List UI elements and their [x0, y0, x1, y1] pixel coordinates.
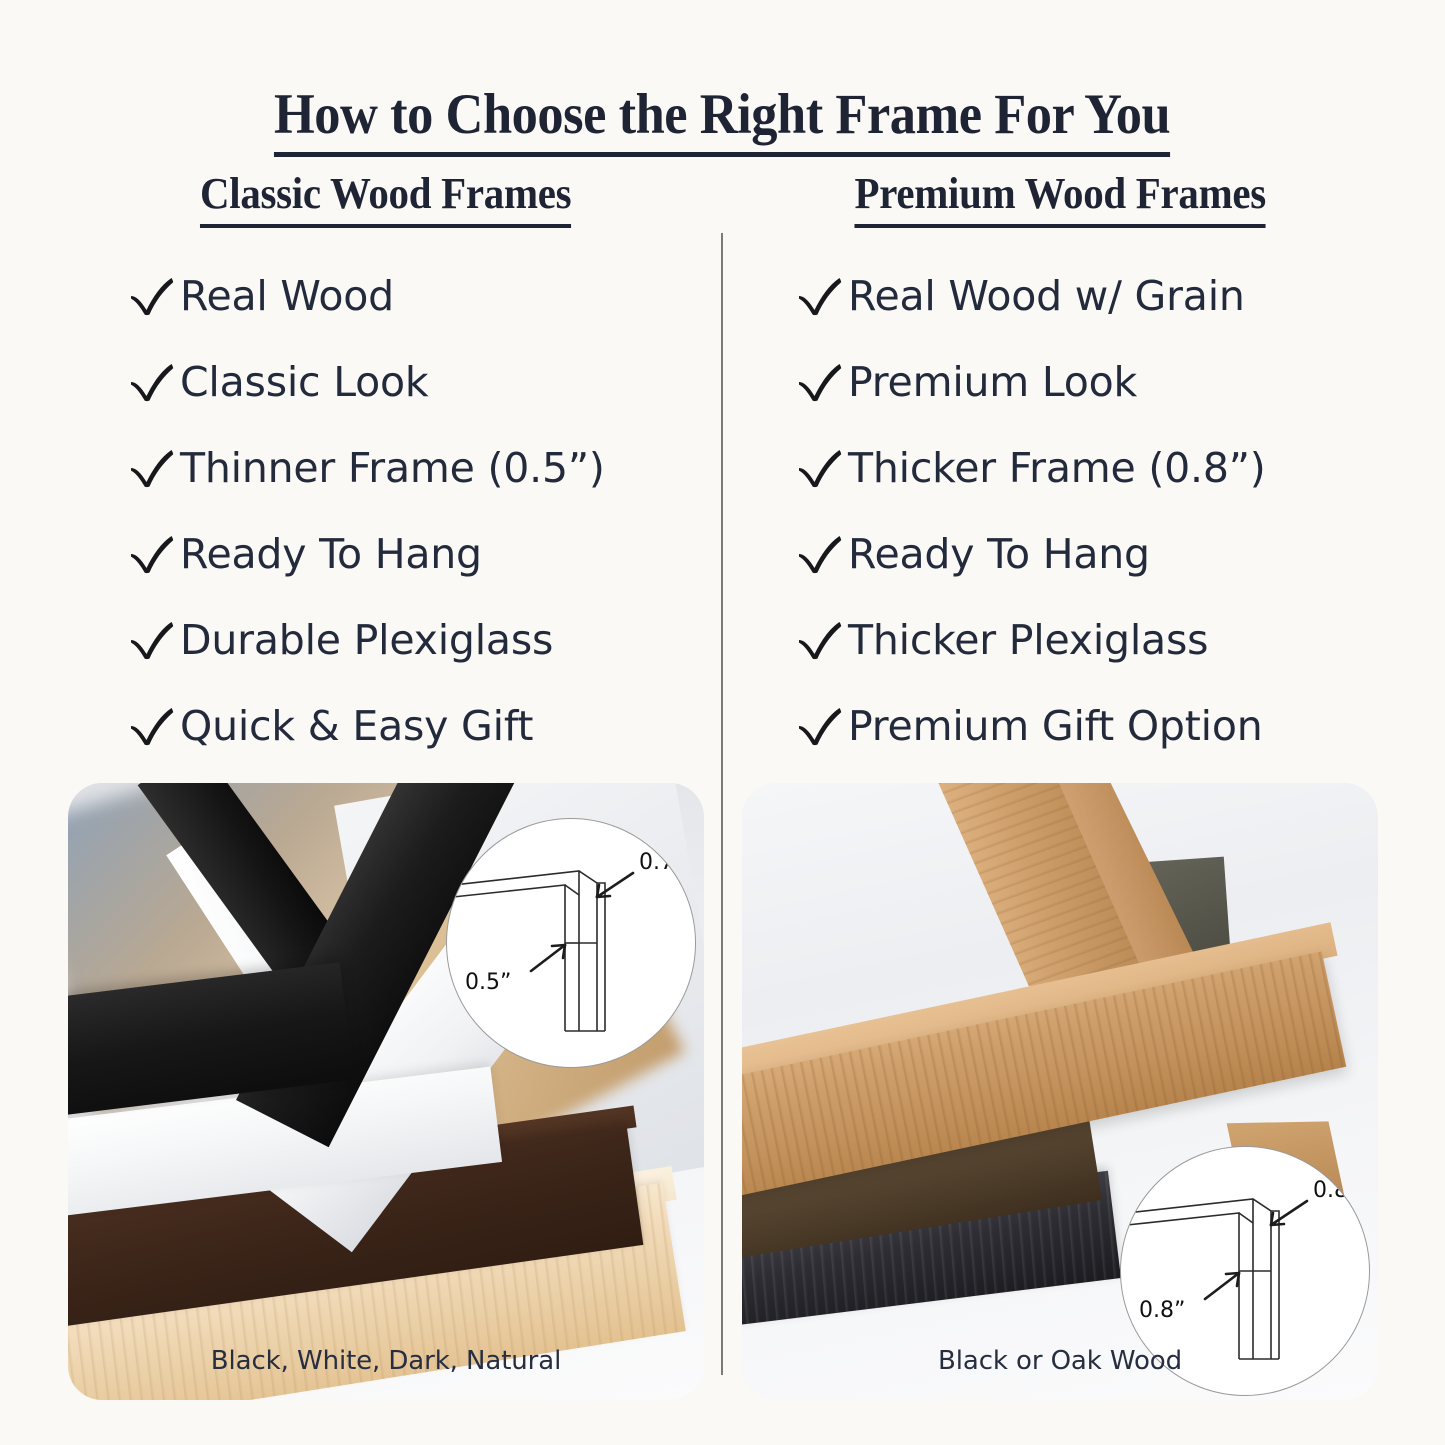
column-divider — [721, 233, 723, 1375]
list-item: Premium Look — [796, 339, 1266, 425]
classic-column-heading: Classic Wood Frames — [200, 172, 571, 228]
classic-frames-photo: 0.75” 0.5” Black, White, Dark, Natural — [68, 783, 704, 1400]
check-icon — [128, 360, 180, 404]
feature-label: Premium Look — [848, 362, 1137, 403]
check-icon — [128, 618, 180, 662]
check-icon — [128, 274, 180, 318]
list-item: Classic Look — [128, 339, 605, 425]
list-item: Premium Gift Option — [796, 683, 1266, 769]
feature-label: Quick & Easy Gift — [180, 706, 533, 747]
check-icon — [128, 532, 180, 576]
premium-column-heading: Premium Wood Frames — [854, 172, 1265, 228]
classic-frames-photo-card: 0.75” 0.5” Black, White, Dark, Natural — [68, 783, 704, 1400]
width-dimension-label: 0.8” — [1139, 1298, 1185, 1323]
feature-label: Ready To Hang — [180, 534, 482, 575]
list-item: Thicker Frame (0.8”) — [796, 425, 1266, 511]
list-item: Thinner Frame (0.5”) — [128, 425, 605, 511]
list-item: Thicker Plexiglass — [796, 597, 1266, 683]
check-icon — [796, 360, 848, 404]
feature-label: Classic Look — [180, 362, 428, 403]
premium-feature-list: Real Wood w/ Grain Premium Look Thicker … — [796, 253, 1266, 769]
premium-frames-caption: Black or Oak Wood — [742, 1346, 1378, 1376]
feature-label: Thicker Frame (0.8”) — [848, 448, 1266, 489]
feature-label: Real Wood w/ Grain — [848, 276, 1245, 317]
premium-frames-photo: 0.8” 0.8” Black or Oak Wood — [742, 783, 1378, 1400]
width-dimension-label: 0.5” — [465, 970, 511, 995]
list-item: Ready To Hang — [128, 511, 605, 597]
feature-label: Durable Plexiglass — [180, 620, 553, 661]
page-title: How to Choose the Right Frame For You — [274, 86, 1170, 157]
page-title-container: How to Choose the Right Frame For You — [0, 86, 1445, 157]
list-item: Durable Plexiglass — [128, 597, 605, 683]
classic-frame-profile-diagram: 0.75” 0.5” — [446, 818, 696, 1068]
feature-label: Real Wood — [180, 276, 394, 317]
list-item: Quick & Easy Gift — [128, 683, 605, 769]
check-icon — [796, 532, 848, 576]
check-icon — [796, 618, 848, 662]
frame-comparison-infographic: How to Choose the Right Frame For You Cl… — [0, 0, 1445, 1445]
check-icon — [796, 704, 848, 748]
list-item: Real Wood — [128, 253, 605, 339]
feature-label: Thinner Frame (0.5”) — [180, 448, 605, 489]
classic-column-heading-container: Classic Wood Frames — [68, 172, 704, 228]
check-icon — [128, 446, 180, 490]
feature-label: Ready To Hang — [848, 534, 1150, 575]
classic-feature-list: Real Wood Classic Look Thinner Frame (0.… — [128, 253, 605, 769]
check-icon — [128, 704, 180, 748]
check-icon — [796, 274, 848, 318]
check-icon — [796, 446, 848, 490]
premium-column-heading-container: Premium Wood Frames — [742, 172, 1378, 228]
premium-frames-photo-card: 0.8” 0.8” Black or Oak Wood — [742, 783, 1378, 1400]
feature-label: Premium Gift Option — [848, 706, 1263, 747]
list-item: Ready To Hang — [796, 511, 1266, 597]
list-item: Real Wood w/ Grain — [796, 253, 1266, 339]
classic-frames-caption: Black, White, Dark, Natural — [68, 1346, 704, 1376]
feature-label: Thicker Plexiglass — [848, 620, 1208, 661]
